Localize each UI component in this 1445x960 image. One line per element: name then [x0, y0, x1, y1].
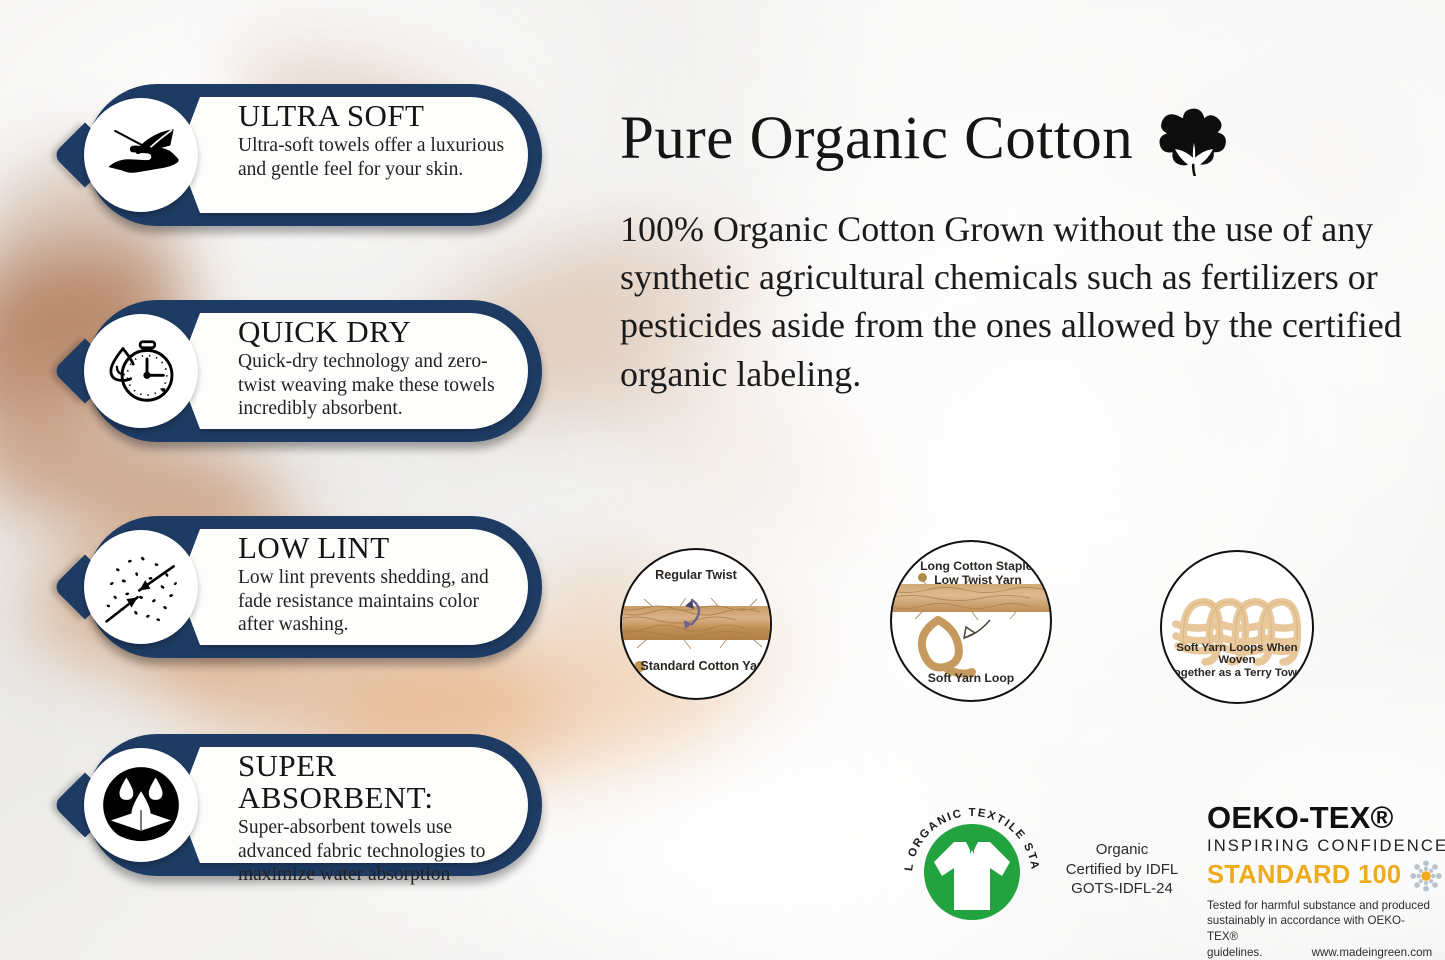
idfl-certification-text: Organic Certified by IDFL GOTS-IDFL-24 [1059, 840, 1185, 899]
diagram-bottom-label: Soft Yarn Loops When Woven Together as a… [1162, 642, 1312, 680]
feature-description: Super-absorbent towels use advanced fabr… [238, 816, 512, 886]
oekotex-standard: STANDARD 100 [1207, 863, 1401, 889]
feature-card-super-absorbent[interactable]: SUPER ABSORBENT: Super-absorbent towels … [62, 734, 542, 876]
feature-description: Quick-dry technology and zero-twist weav… [238, 350, 512, 420]
oekotex-title: OEKO-TEX® [1207, 802, 1435, 833]
diagram-top-label: Long Cotton Staple, Low Twist Yarn [892, 560, 1050, 587]
droplets-on-fabric-icon [84, 748, 198, 862]
feature-description: Ultra-soft towels offer a luxurious and … [238, 134, 512, 181]
low-twist-yarn-diagram: Long Cotton Staple, Low Twist Yarn Soft … [890, 540, 1052, 702]
droplet-stopwatch-icon [84, 314, 198, 428]
idfl-line-2: Certified by IDFL [1059, 860, 1185, 880]
gots-logo: GLOBAL ORGANIC TEXTILE STANDARD · GOTS · [902, 798, 1042, 946]
oekotex-logo: OEKO-TEX® INSPIRING CONFIDENCE STANDARD … [1207, 802, 1435, 960]
headline-text: Pure Organic Cotton [620, 108, 1133, 169]
diagram-bottom-label: Soft Yarn Loop [892, 672, 1050, 686]
diagram-bottom-label: Standard Cotton Yarn [622, 659, 770, 673]
feature-card-low-lint[interactable]: LOW LINT Low lint prevents shedding, and… [62, 516, 542, 658]
gots-tshirt-icon [924, 824, 1020, 920]
oekotex-fine-1: Tested for harmful substance and produce… [1207, 898, 1435, 914]
feature-title: LOW LINT [238, 532, 512, 564]
idfl-line-3: GOTS-IDFL-24 [1059, 879, 1185, 899]
feature-title: QUICK DRY [238, 316, 512, 348]
feature-card-list: ULTRA SOFT Ultra-soft towels offer a lux… [0, 0, 580, 960]
certification-group: GLOBAL ORGANIC TEXTILE STANDARD · GOTS ·… [612, 780, 1445, 960]
oekotex-fine-3: guidelines. [1207, 946, 1262, 959]
diagram-top-label: Regular Twist [622, 568, 770, 582]
oekotex-fine-2: sustainably in accordance with OEKO-TEX® [1207, 913, 1435, 944]
oekotex-url[interactable]: www.madeingreen.com [1312, 945, 1433, 960]
terry-loops-diagram: Soft Yarn Loops When Woven Together as a… [1160, 550, 1314, 704]
lint-particles-arrows-icon [84, 530, 198, 644]
cotton-boll-icon [1153, 100, 1235, 176]
body-copy: 100% Organic Cotton Grown without the us… [620, 205, 1420, 398]
oekotex-fineprint: Tested for harmful substance and produce… [1207, 898, 1435, 960]
oekotex-flower-icon [1409, 859, 1443, 893]
feature-title: SUPER ABSORBENT: [238, 750, 512, 814]
yarn-diagram-group: Regular Twist Standard Cotton Yarn [612, 540, 1445, 730]
regular-twist-yarn-diagram: Regular Twist Standard Cotton Yarn [620, 548, 772, 700]
feature-title: ULTRA SOFT [238, 100, 512, 132]
feature-card-quick-dry[interactable]: QUICK DRY Quick-dry technology and zero-… [62, 300, 542, 442]
feature-card-ultra-soft[interactable]: ULTRA SOFT Ultra-soft towels offer a lux… [62, 84, 542, 226]
feature-description: Low lint prevents shedding, and fade res… [238, 566, 512, 636]
oekotex-tagline: INSPIRING CONFIDENCE [1207, 838, 1435, 855]
page-title: Pure Organic Cotton [620, 100, 1235, 176]
idfl-line-1: Organic [1059, 840, 1185, 860]
right-content-column: Pure Organic Cotton 100% Organic Cotton … [612, 0, 1445, 960]
hand-feather-icon [84, 98, 198, 212]
